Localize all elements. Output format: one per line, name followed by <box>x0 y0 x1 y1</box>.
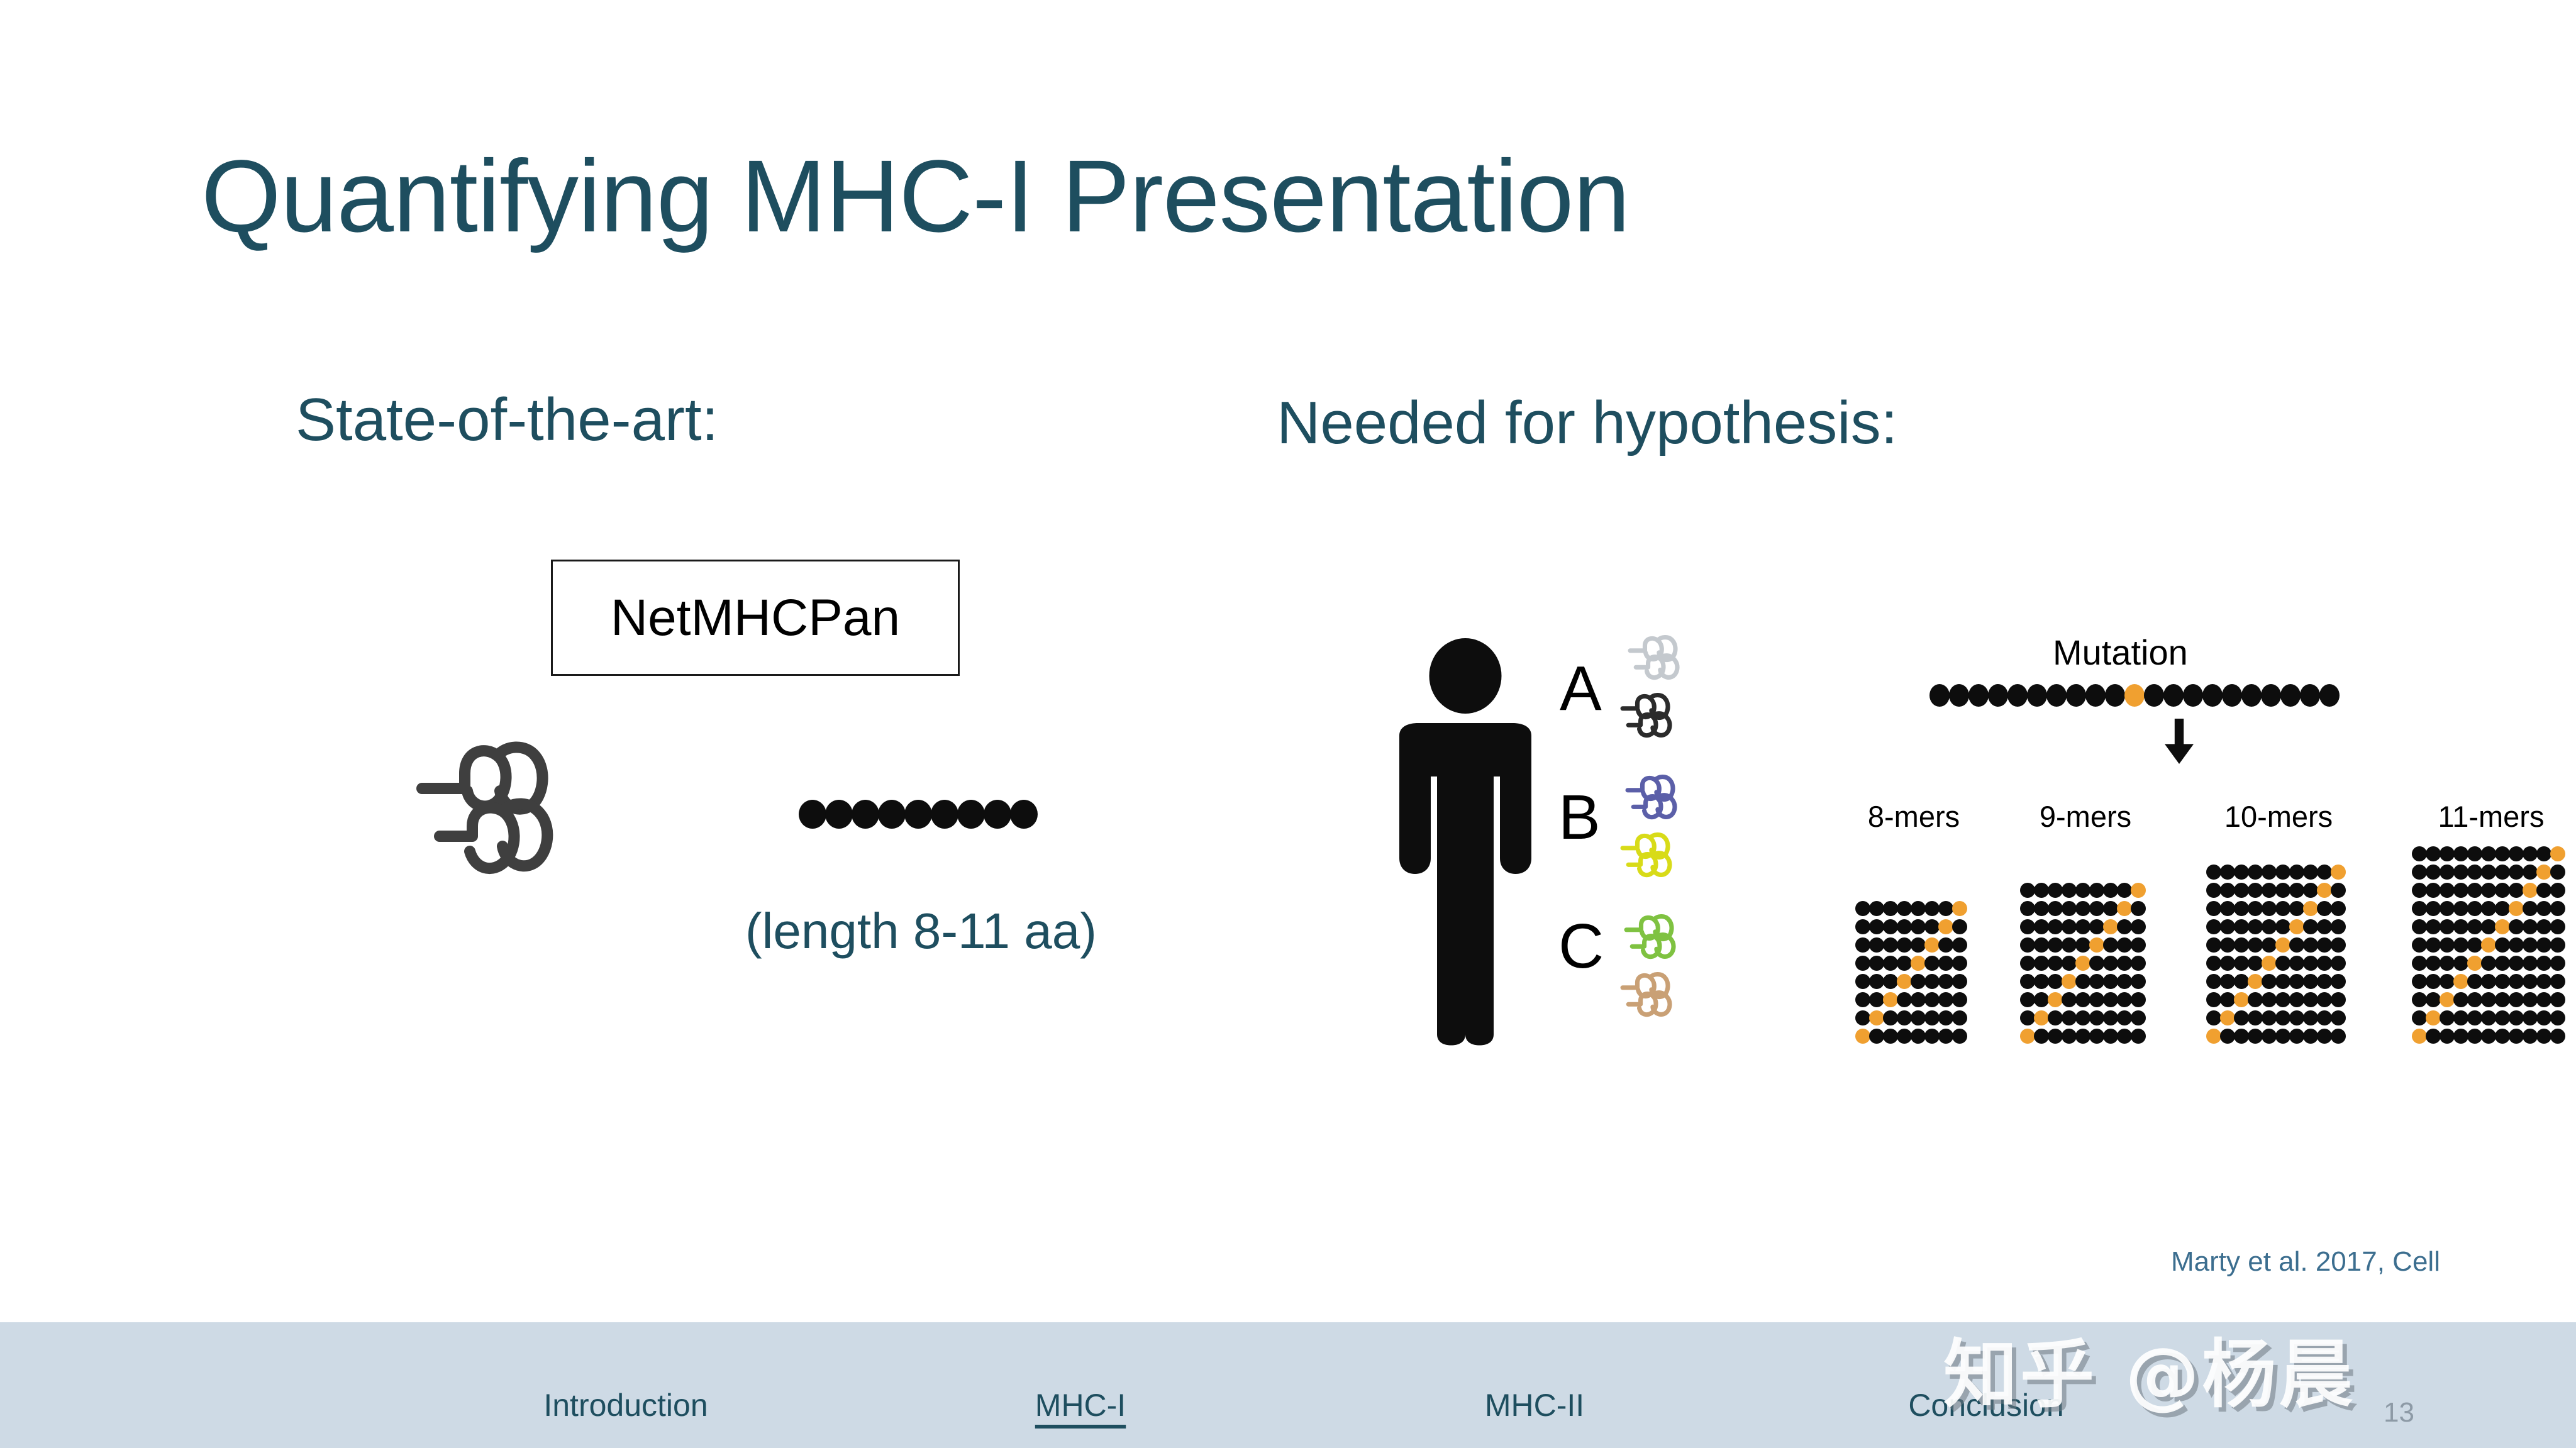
sequence-dot <box>2289 956 2304 971</box>
sequence-dot <box>2275 919 2290 934</box>
sequence-dot <box>2206 956 2221 971</box>
sequence-dot <box>1924 901 1940 916</box>
nmer-row <box>2412 846 2564 865</box>
sequence-dot <box>1897 901 1912 916</box>
sequence-dot <box>2089 901 2104 916</box>
sequence-dot <box>2020 1010 2035 1025</box>
nmer-row <box>2412 974 2564 992</box>
sequence-dot <box>2523 1029 2538 1044</box>
sequence-dot <box>2206 974 2221 989</box>
sequence-dot <box>2481 883 2496 898</box>
sequence-dot <box>1855 919 1870 934</box>
sequence-dot <box>2034 937 2049 953</box>
sequence-dot <box>1855 937 1870 953</box>
mutation-dot <box>2550 846 2565 861</box>
sequence-dot <box>2131 974 2146 989</box>
mutation-dot <box>1883 992 1898 1007</box>
sequence-dot <box>2509 1029 2524 1044</box>
sequence-dot <box>2062 883 2077 898</box>
nmer-group: 11-mers <box>2412 802 2570 1047</box>
mutation-dot <box>1924 937 1940 953</box>
sequence-dot <box>2234 1029 2249 1044</box>
mutation-dot <box>2467 956 2482 971</box>
sequence-dot <box>2117 992 2132 1007</box>
sequence-dot <box>2481 1010 2496 1025</box>
sequence-dot <box>2550 956 2565 971</box>
sequence-dot <box>1949 684 1969 707</box>
sequence-dot <box>2453 1010 2468 1025</box>
sequence-dot <box>2234 974 2249 989</box>
sequence-dot <box>2509 846 2524 861</box>
sequence-dot <box>2440 865 2455 880</box>
sequence-dot <box>2220 992 2235 1007</box>
sequence-dot <box>2075 1010 2090 1025</box>
mutation-dot <box>2453 974 2468 989</box>
mutation-dot <box>2117 901 2132 916</box>
nmer-row <box>2412 883 2564 901</box>
sequence-dot <box>2075 901 2090 916</box>
sequence-dot <box>1938 937 1953 953</box>
sequence-dot <box>1938 901 1953 916</box>
sequence-dot <box>2020 974 2035 989</box>
sequence-dot <box>2523 956 2538 971</box>
mhc-molecule-icon <box>1624 775 1700 820</box>
sequence-dot <box>2103 883 2118 898</box>
sequence-dot <box>2062 992 2077 1007</box>
person-icon <box>1384 638 1547 1047</box>
sequence-dot <box>2453 901 2468 916</box>
sequence-dot <box>2509 865 2524 880</box>
sequence-dot <box>2275 1029 2290 1044</box>
sequence-dot <box>2280 684 2301 707</box>
sequence-dot <box>2089 1029 2104 1044</box>
mhc-molecule-icon <box>1623 914 1699 959</box>
sequence-dot <box>2550 1029 2565 1044</box>
sequence-dot <box>2089 919 2104 934</box>
nmer-row <box>2412 937 2564 956</box>
sequence-dot <box>2220 974 2235 989</box>
sequence-dot <box>2467 974 2482 989</box>
sequence-dot <box>2331 956 2346 971</box>
sequence-dot <box>2509 919 2524 934</box>
sequence-dot <box>1911 901 1926 916</box>
sequence-dot <box>2117 883 2132 898</box>
sequence-dot <box>2426 974 2441 989</box>
sequence-dot <box>2275 956 2290 971</box>
sequence-dot <box>2089 883 2104 898</box>
mutation-dot <box>2034 1010 2049 1025</box>
sequence-dot <box>2262 883 2277 898</box>
nmer-grid <box>2412 846 2564 1047</box>
sequence-dot <box>2426 1029 2441 1044</box>
sequence-dot <box>2550 937 2565 953</box>
sequence-dot <box>2131 992 2146 1007</box>
sequence-dot <box>2536 919 2551 934</box>
sequence-dot <box>2319 684 2340 707</box>
mhc-molecule-icon <box>1627 635 1702 680</box>
peptide-dot <box>1010 800 1038 829</box>
watermark: 知乎 @杨晨 <box>1943 1314 2355 1422</box>
sequence-dot <box>2206 919 2221 934</box>
nmer-row <box>2412 956 2564 974</box>
sequence-dot <box>2509 992 2524 1007</box>
sequence-dot <box>2453 846 2468 861</box>
sequence-dot <box>2117 956 2132 971</box>
sequence-dot <box>2440 956 2455 971</box>
sequence-dot <box>2234 956 2249 971</box>
sequence-dot <box>2262 901 2277 916</box>
sequence-dot <box>1911 937 1926 953</box>
sequence-dot <box>2289 901 2304 916</box>
nmer-row <box>1855 1029 1966 1047</box>
sequence-dot <box>1855 974 1870 989</box>
nmer-group: 8-mers <box>1855 802 1972 1047</box>
sequence-dot <box>2103 956 2118 971</box>
sequence-dot <box>2234 883 2249 898</box>
netmhcpan-box: NetMHCPan <box>551 560 960 676</box>
sequence-dot <box>2317 919 2332 934</box>
allele-letter-b: B <box>1558 786 1601 849</box>
sequence-dot <box>2453 919 2468 934</box>
sequence-dot <box>2048 883 2063 898</box>
sequence-dot <box>2202 684 2223 707</box>
sequence-dot <box>2034 992 2049 1007</box>
sequence-dot <box>1911 974 1926 989</box>
sequence-dot <box>2467 919 2482 934</box>
sequence-dot <box>2331 1029 2346 1044</box>
sequence-dot <box>1869 992 1884 1007</box>
sequence-dot <box>2426 883 2441 898</box>
sequence-dot <box>2495 992 2510 1007</box>
sequence-dot <box>2089 992 2104 1007</box>
sequence-dot <box>2481 901 2496 916</box>
sequence-dot <box>2331 901 2346 916</box>
sequence-dot <box>2495 937 2510 953</box>
sequence-dot <box>2495 1029 2510 1044</box>
sequence-dot <box>2467 865 2482 880</box>
sequence-dot <box>2275 992 2290 1007</box>
nmer-grid <box>2020 883 2145 1047</box>
sequence-dot <box>1938 974 1953 989</box>
sequence-dot <box>1911 919 1926 934</box>
nav-item-mhc-i[interactable]: MHC-I <box>1035 1387 1126 1423</box>
sequence-dot <box>1938 992 1953 1007</box>
mutation-dot <box>2275 937 2290 953</box>
sequence-dot <box>1883 919 1898 934</box>
sequence-dot <box>1883 1010 1898 1025</box>
arrow-down-icon <box>2163 719 2195 764</box>
nmer-row <box>1855 1010 1966 1029</box>
sequence-dot <box>2262 919 2277 934</box>
sequence-dot <box>2103 1029 2118 1044</box>
nmer-row <box>1855 937 1966 956</box>
sequence-dot <box>2103 937 2118 953</box>
sequence-dot <box>2206 992 2221 1007</box>
sequence-dot <box>2300 684 2320 707</box>
sequence-dot <box>2331 1010 2346 1025</box>
sequence-dot <box>2020 901 2035 916</box>
sequence-dot <box>2117 919 2132 934</box>
nmer-grid <box>1855 901 1966 1047</box>
sequence-dot <box>2131 1010 2146 1025</box>
sequence-dot <box>2550 865 2565 880</box>
sequence-dot <box>2509 937 2524 953</box>
sequence-dot <box>2105 684 2125 707</box>
nmer-row <box>2020 883 2145 901</box>
sequence-dot <box>1897 1029 1912 1044</box>
nmer-row <box>2020 974 2145 992</box>
sequence-dot <box>1883 1029 1898 1044</box>
sequence-dot <box>2183 684 2203 707</box>
sequence-dot <box>2303 1029 2318 1044</box>
sequence-dot <box>2331 974 2346 989</box>
sequence-dot <box>2412 846 2427 861</box>
sequence-dot <box>2234 937 2249 953</box>
sequence-dot <box>2440 1029 2455 1044</box>
mutation-dot <box>2206 1029 2221 1044</box>
mutation-dot <box>2020 1029 2035 1044</box>
sequence-dot <box>2523 865 2538 880</box>
sequence-dot <box>2275 901 2290 916</box>
sequence-dot <box>1924 956 1940 971</box>
sequence-dot <box>2412 937 2427 953</box>
sequence-dot <box>2220 1029 2235 1044</box>
sequence-dot <box>2440 883 2455 898</box>
sequence-dot <box>2248 901 2263 916</box>
mutation-dot <box>2412 1029 2427 1044</box>
sequence-dot <box>2481 846 2496 861</box>
nmer-row <box>2020 1029 2145 1047</box>
sequence-dot <box>2317 992 2332 1007</box>
sequence-dot <box>2163 684 2184 707</box>
nmer-row <box>2206 937 2345 956</box>
sequence-dot <box>2495 956 2510 971</box>
mutation-label: Mutation <box>2053 632 2188 673</box>
sequence-dot <box>2062 1010 2077 1025</box>
sequence-dot <box>1869 901 1884 916</box>
sequence-dot <box>2289 992 2304 1007</box>
nmer-row <box>1855 901 1966 919</box>
sequence-dot <box>2523 974 2538 989</box>
peptide-length-note: (length 8-11 aa) <box>745 902 1097 960</box>
sequence-dot <box>2046 684 2067 707</box>
sequence-dot <box>2495 883 2510 898</box>
sequence-dot <box>2206 937 2221 953</box>
nmer-row <box>2020 937 2145 956</box>
sequence-dot <box>2117 974 2132 989</box>
sequence-dot <box>2467 1029 2482 1044</box>
nav-item-mhc-ii[interactable]: MHC-II <box>1485 1387 1584 1423</box>
sequence-dot <box>2206 901 2221 916</box>
sequence-dot <box>2440 901 2455 916</box>
allele-letter-a: A <box>1560 657 1602 720</box>
nmer-row <box>1855 992 1966 1010</box>
peptide-dot <box>878 800 906 829</box>
mutation-dot <box>1938 919 1953 934</box>
mutation-dot <box>2289 919 2304 934</box>
sequence-dot <box>2234 1010 2249 1025</box>
sequence-dot <box>2289 1029 2304 1044</box>
sequence-dot <box>2303 937 2318 953</box>
sequence-dot <box>1988 684 2008 707</box>
sequence-dot <box>2020 956 2035 971</box>
sequence-dot <box>2034 883 2049 898</box>
sequence-dot <box>1952 1029 1967 1044</box>
mhc-molecule-icon <box>1619 693 1695 738</box>
sequence-dot <box>2550 919 2565 934</box>
nmer-row <box>2412 1029 2564 1047</box>
sequence-dot <box>2481 1029 2496 1044</box>
sequence-dot <box>2048 956 2063 971</box>
sequence-dot <box>2248 865 2263 880</box>
peptide-dot <box>984 800 1011 829</box>
right-column-heading: Needed for hypothesis: <box>1277 393 1897 453</box>
allele-letter-c: C <box>1558 915 1604 978</box>
sequence-dot <box>2262 1010 2277 1025</box>
sequence-dot <box>1897 919 1912 934</box>
sequence-dot <box>2289 865 2304 880</box>
sequence-dot <box>2495 846 2510 861</box>
mutation-dot <box>2234 992 2249 1007</box>
sequence-dot <box>1952 1010 1967 1025</box>
sequence-dot <box>2248 919 2263 934</box>
nmer-row <box>2020 1010 2145 1029</box>
mutation-dot <box>2495 919 2510 934</box>
sequence-dot <box>2453 883 2468 898</box>
sequence-dot <box>2523 1010 2538 1025</box>
sequence-dot <box>2495 901 2510 916</box>
sequence-dot <box>1855 992 1870 1007</box>
nmer-row <box>2206 883 2345 901</box>
sequence-dot <box>2481 956 2496 971</box>
sequence-dot <box>2317 1010 2332 1025</box>
mutation-dot <box>2262 956 2277 971</box>
sequence-dot <box>1869 956 1884 971</box>
nmer-row <box>2412 919 2564 937</box>
page-number: 13 <box>2384 1397 2414 1429</box>
sequence-dot <box>2495 865 2510 880</box>
sequence-dot <box>2331 937 2346 953</box>
sequence-dot <box>2412 919 2427 934</box>
mhc-molecule-stack <box>1619 635 1714 1050</box>
sequence-dot <box>2331 919 2346 934</box>
sequence-dot <box>2275 974 2290 989</box>
sequence-dot <box>2523 919 2538 934</box>
sequence-dot <box>2303 974 2318 989</box>
sequence-dot <box>1897 992 1912 1007</box>
sequence-dot <box>1924 919 1940 934</box>
page-title: Quantifying MHC-I Presentation <box>201 145 1629 247</box>
sequence-dot <box>2440 937 2455 953</box>
nav-item-introduction[interactable]: Introduction <box>543 1387 708 1423</box>
sequence-dot <box>1952 992 1967 1007</box>
mhc-molecule-icon <box>1619 832 1695 878</box>
sequence-dot <box>2117 1029 2132 1044</box>
sequence-dot <box>1869 919 1884 934</box>
sequence-dot <box>2523 901 2538 916</box>
sequence-dot <box>2220 901 2235 916</box>
netmhcpan-label: NetMHCPan <box>553 589 958 648</box>
sequence-dot <box>2131 937 2146 953</box>
sequence-dot <box>2248 883 2263 898</box>
nmer-row <box>2206 992 2345 1010</box>
sequence-dot <box>2048 919 2063 934</box>
peptide-dot <box>957 800 985 829</box>
sequence-dot <box>1924 1029 1940 1044</box>
nmer-row <box>2020 901 2145 919</box>
sequence-dot <box>1938 1029 1953 1044</box>
sequence-dot <box>1968 684 1989 707</box>
sequence-dot <box>1883 901 1898 916</box>
sequence-dot <box>2075 883 2090 898</box>
sequence-dot <box>2550 1010 2565 1025</box>
sequence-dot <box>2066 684 2086 707</box>
sequence-dot <box>2426 937 2441 953</box>
sequence-dot <box>1855 901 1870 916</box>
sequence-dot <box>2509 956 2524 971</box>
sequence-dot <box>2206 1010 2221 1025</box>
sequence-dot <box>1952 974 1967 989</box>
sequence-dot <box>2103 1010 2118 1025</box>
sequence-dot <box>2550 974 2565 989</box>
nmer-row <box>2020 919 2145 937</box>
nmer-row <box>2206 865 2345 883</box>
nmer-row <box>2206 901 2345 919</box>
sequence-dot <box>2536 974 2551 989</box>
sequence-dot <box>2144 684 2164 707</box>
sequence-dot <box>2048 1029 2063 1044</box>
sequence-dot <box>2248 937 2263 953</box>
sequence-dot <box>2481 865 2496 880</box>
sequence-dot <box>2412 956 2427 971</box>
sequence-dot <box>2222 684 2242 707</box>
nmer-group-title: 8-mers <box>1868 802 1960 831</box>
sequence-dot <box>2440 919 2455 934</box>
sequence-dot <box>2453 992 2468 1007</box>
mutation-dot <box>2331 865 2346 880</box>
sequence-dot <box>1869 974 1884 989</box>
sequence-dot <box>2536 1029 2551 1044</box>
nmer-group-title: 11-mers <box>2438 802 2545 831</box>
sequence-dot <box>1938 956 1953 971</box>
sequence-dot <box>2453 937 2468 953</box>
sequence-dot <box>2075 1029 2090 1044</box>
sequence-dot <box>2317 956 2332 971</box>
nmer-row <box>1855 956 1966 974</box>
sequence-dot <box>2440 846 2455 861</box>
sequence-dot <box>2550 883 2565 898</box>
sequence-dot <box>2131 1029 2146 1044</box>
sequence-dot <box>1911 1010 1926 1025</box>
sequence-dot <box>2220 956 2235 971</box>
sequence-dot <box>2034 919 2049 934</box>
sequence-dot <box>2550 992 2565 1007</box>
sequence-dot <box>2089 956 2104 971</box>
sequence-dot <box>1911 992 1926 1007</box>
mutation-dot <box>2075 956 2090 971</box>
sequence-dot <box>2034 974 2049 989</box>
mhc-molecule-icon <box>412 736 651 893</box>
sequence-dot <box>2550 901 2565 916</box>
mutation-dot <box>2440 992 2455 1007</box>
sequence-dot <box>1897 937 1912 953</box>
sequence-dot <box>2020 937 2035 953</box>
sequence-dot <box>2426 992 2441 1007</box>
sequence-dot <box>2103 974 2118 989</box>
nmer-row <box>2206 956 2345 974</box>
sequence-dot <box>2536 956 2551 971</box>
sequence-dot <box>2467 846 2482 861</box>
